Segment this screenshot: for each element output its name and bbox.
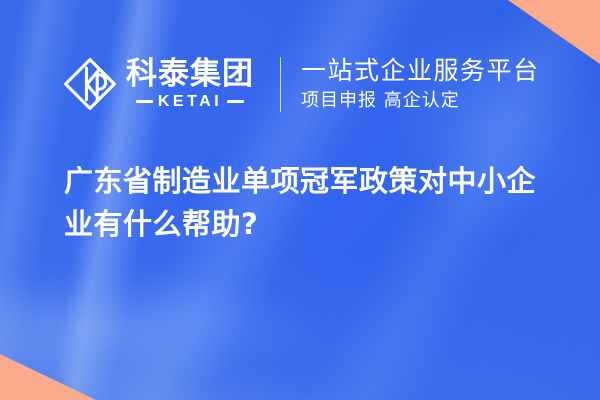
promo-banner: 科泰集团 KETAI 一站式企业服务平台 项目申报 高企认定 广东省制造业单项冠… [0, 0, 600, 400]
page-title: 广东省制造业单项冠军政策对中小企业有什么帮助? [64, 160, 564, 246]
tagline-sub: 项目申报 高企认定 [301, 89, 540, 112]
brand-wordmark: 科泰集团 KETAI [126, 58, 254, 110]
tagline-block: 一站式企业服务平台 项目申报 高企认定 [301, 56, 540, 112]
header-divider [280, 57, 281, 112]
ketai-diamond-kp-logo-icon [62, 56, 118, 112]
brand-header: 科泰集团 KETAI 一站式企业服务平台 项目申报 高企认定 [0, 46, 600, 122]
brand-name-en-row: KETAI [136, 94, 244, 110]
wordmark-rule-left-icon [136, 100, 153, 103]
brand-name-en: KETAI [158, 94, 222, 110]
tagline-main: 一站式企业服务平台 [301, 56, 540, 86]
brand-name-cn: 科泰集团 [126, 58, 254, 91]
wordmark-rule-right-icon [227, 100, 244, 103]
